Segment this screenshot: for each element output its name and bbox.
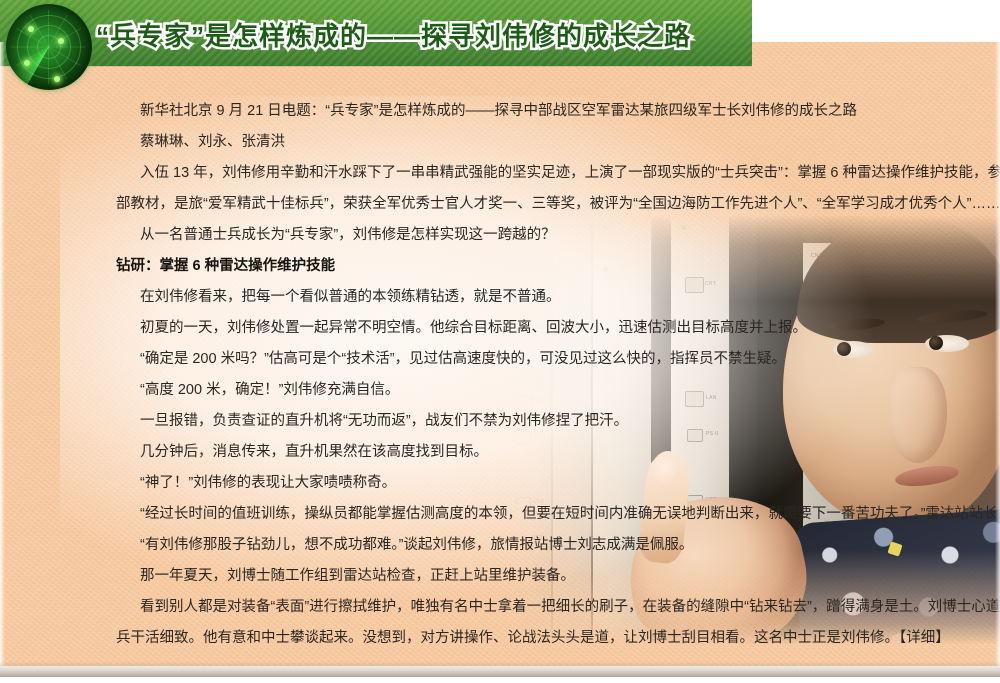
bottom-shadow [0, 661, 1000, 683]
right-edge-fade [995, 42, 1000, 666]
article-paragraph-with-detail-link: 兵干活细致。他有意和中士攀谈起来。没想到，对方讲操作、论战法头头是道，让刘博士刮… [0, 623, 1000, 654]
article-paragraph: 在刘伟修看来，把每一个看似普通的本领练精钻透，就是不普通。 [0, 282, 1000, 313]
article-paragraph: “高度 200 米，确定！”刘伟修充满自信。 [0, 375, 1000, 406]
article-paragraph: “神了！”刘伟修的表现让大家啧啧称奇。 [0, 468, 1000, 499]
article-paragraph: 看到别人都是对装备“表面”进行擦拭维护，唯独有名中士拿着一把细长的刷子，在装备的… [0, 592, 1000, 623]
radar-blip [58, 38, 64, 44]
article-paragraph: “经过长时间的值班训练，操纵员都能掌握估测高度的本领，但要在短时间内准确无误地判… [0, 499, 1000, 530]
article-paragraph: 一旦报错，负责查证的直升机将“无功而返”，战友们不禁为刘伟修捏了把汗。 [0, 406, 1000, 437]
article-paragraph: 从一名普通士兵成长为“兵专家”，刘伟修是怎样实现这一跨越的？ [0, 220, 1000, 251]
article-section-heading: 钻研：掌握 6 种雷达操作维护技能 [0, 251, 1000, 282]
article-paragraph: “确定是 200 米吗？”估高可是个“技术活”，见过估高速度快的，可没见过这么快… [0, 344, 1000, 375]
page-banner: “兵专家”是怎样炼成的——探寻刘伟修的成长之路 [0, 0, 752, 66]
article-paragraph: 部教材，是旅“爱军精武十佳标兵”，荣获全军优秀士官人才奖一、三等奖，被评为“全国… [0, 189, 1000, 220]
left-edge-fade [0, 42, 5, 666]
article-byline: 蔡琳琳、刘永、张清洪 [0, 127, 1000, 158]
radar-blip [28, 26, 34, 32]
article-body: 新华社北京 9 月 21 日电题：“兵专家”是怎样炼成的——探寻中部战区空军雷达… [0, 96, 1000, 654]
radar-blip [54, 76, 60, 82]
article-dateline: 新华社北京 9 月 21 日电题：“兵专家”是怎样炼成的——探寻中部战区空军雷达… [0, 96, 1000, 127]
article-paragraph: 那一年夏天，刘博士随工作组到雷达站检查，正赶上站里维护装备。 [0, 561, 1000, 592]
radar-scope-icon [6, 4, 92, 90]
article-paragraph: 入伍 13 年，刘伟修用辛勤和汗水踩下了一串串精武强能的坚实足迹，上演了一部现实… [0, 158, 1000, 189]
article-paragraph: 几分钟后，消息传来，直升机果然在该高度找到目标。 [0, 437, 1000, 468]
article-paragraph: 初夏的一天，刘伟修处置一起异常不明空情。他综合目标距离、回波大小，迅速估测出目标… [0, 313, 1000, 344]
page-title: “兵专家”是怎样炼成的——探寻刘伟修的成长之路 [96, 16, 691, 53]
radar-blip [24, 60, 30, 66]
article-paragraph: “有刘伟修那股子钻劲儿，想不成功都难。”谈起刘伟修，旅情报站博士刘志成满是佩服。 [0, 530, 1000, 561]
page-root: CRT COM LAN PS II USB RST CRT LAN PS II [0, 0, 1000, 683]
